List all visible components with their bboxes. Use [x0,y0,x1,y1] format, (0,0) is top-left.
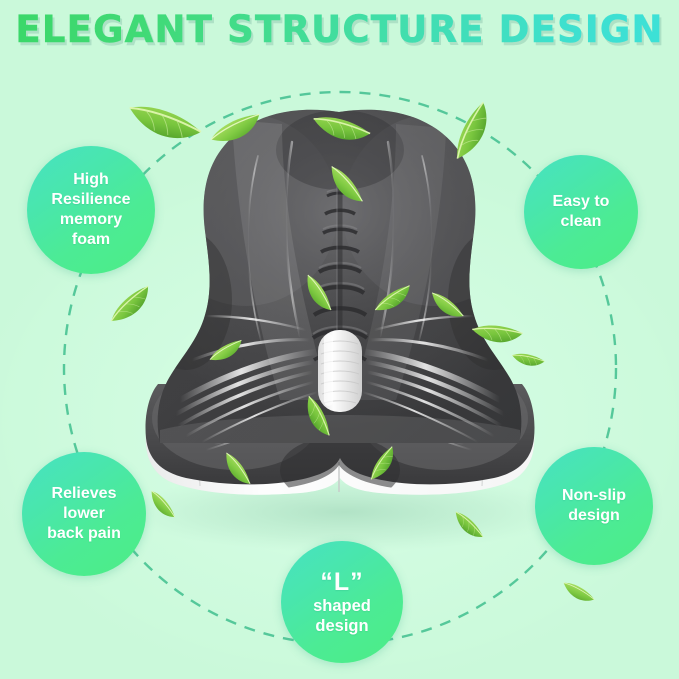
bubble-label: shaped design [313,596,371,637]
feature-bubble-high-resilience-memory-foam[interactable]: High Resilience memory foam [27,146,155,274]
bubble-label: Non-slip design [562,486,626,526]
bubble-label: High Resilience memory foam [51,170,130,250]
feature-bubble-non-slip-design[interactable]: Non-slip design [535,447,653,565]
bubble-label-quoted-l: “L” [313,568,371,596]
feature-bubble-l-shaped-design[interactable]: “L” shaped design [281,541,403,663]
bubble-label: Relieves lower back pain [47,484,121,544]
feature-bubble-relieves-lower-back-pain[interactable]: Relieves lower back pain [22,452,146,576]
bubble-label-group: “L” shaped design [313,568,371,637]
page-title: ELEGANT STRUCTURE DESIGN [0,7,679,53]
infographic-canvas: ELEGANT STRUCTURE DESIGN High Resilience… [0,0,679,679]
feature-bubble-easy-to-clean[interactable]: Easy to clean [524,155,638,269]
bubble-label: Easy to clean [553,192,610,232]
